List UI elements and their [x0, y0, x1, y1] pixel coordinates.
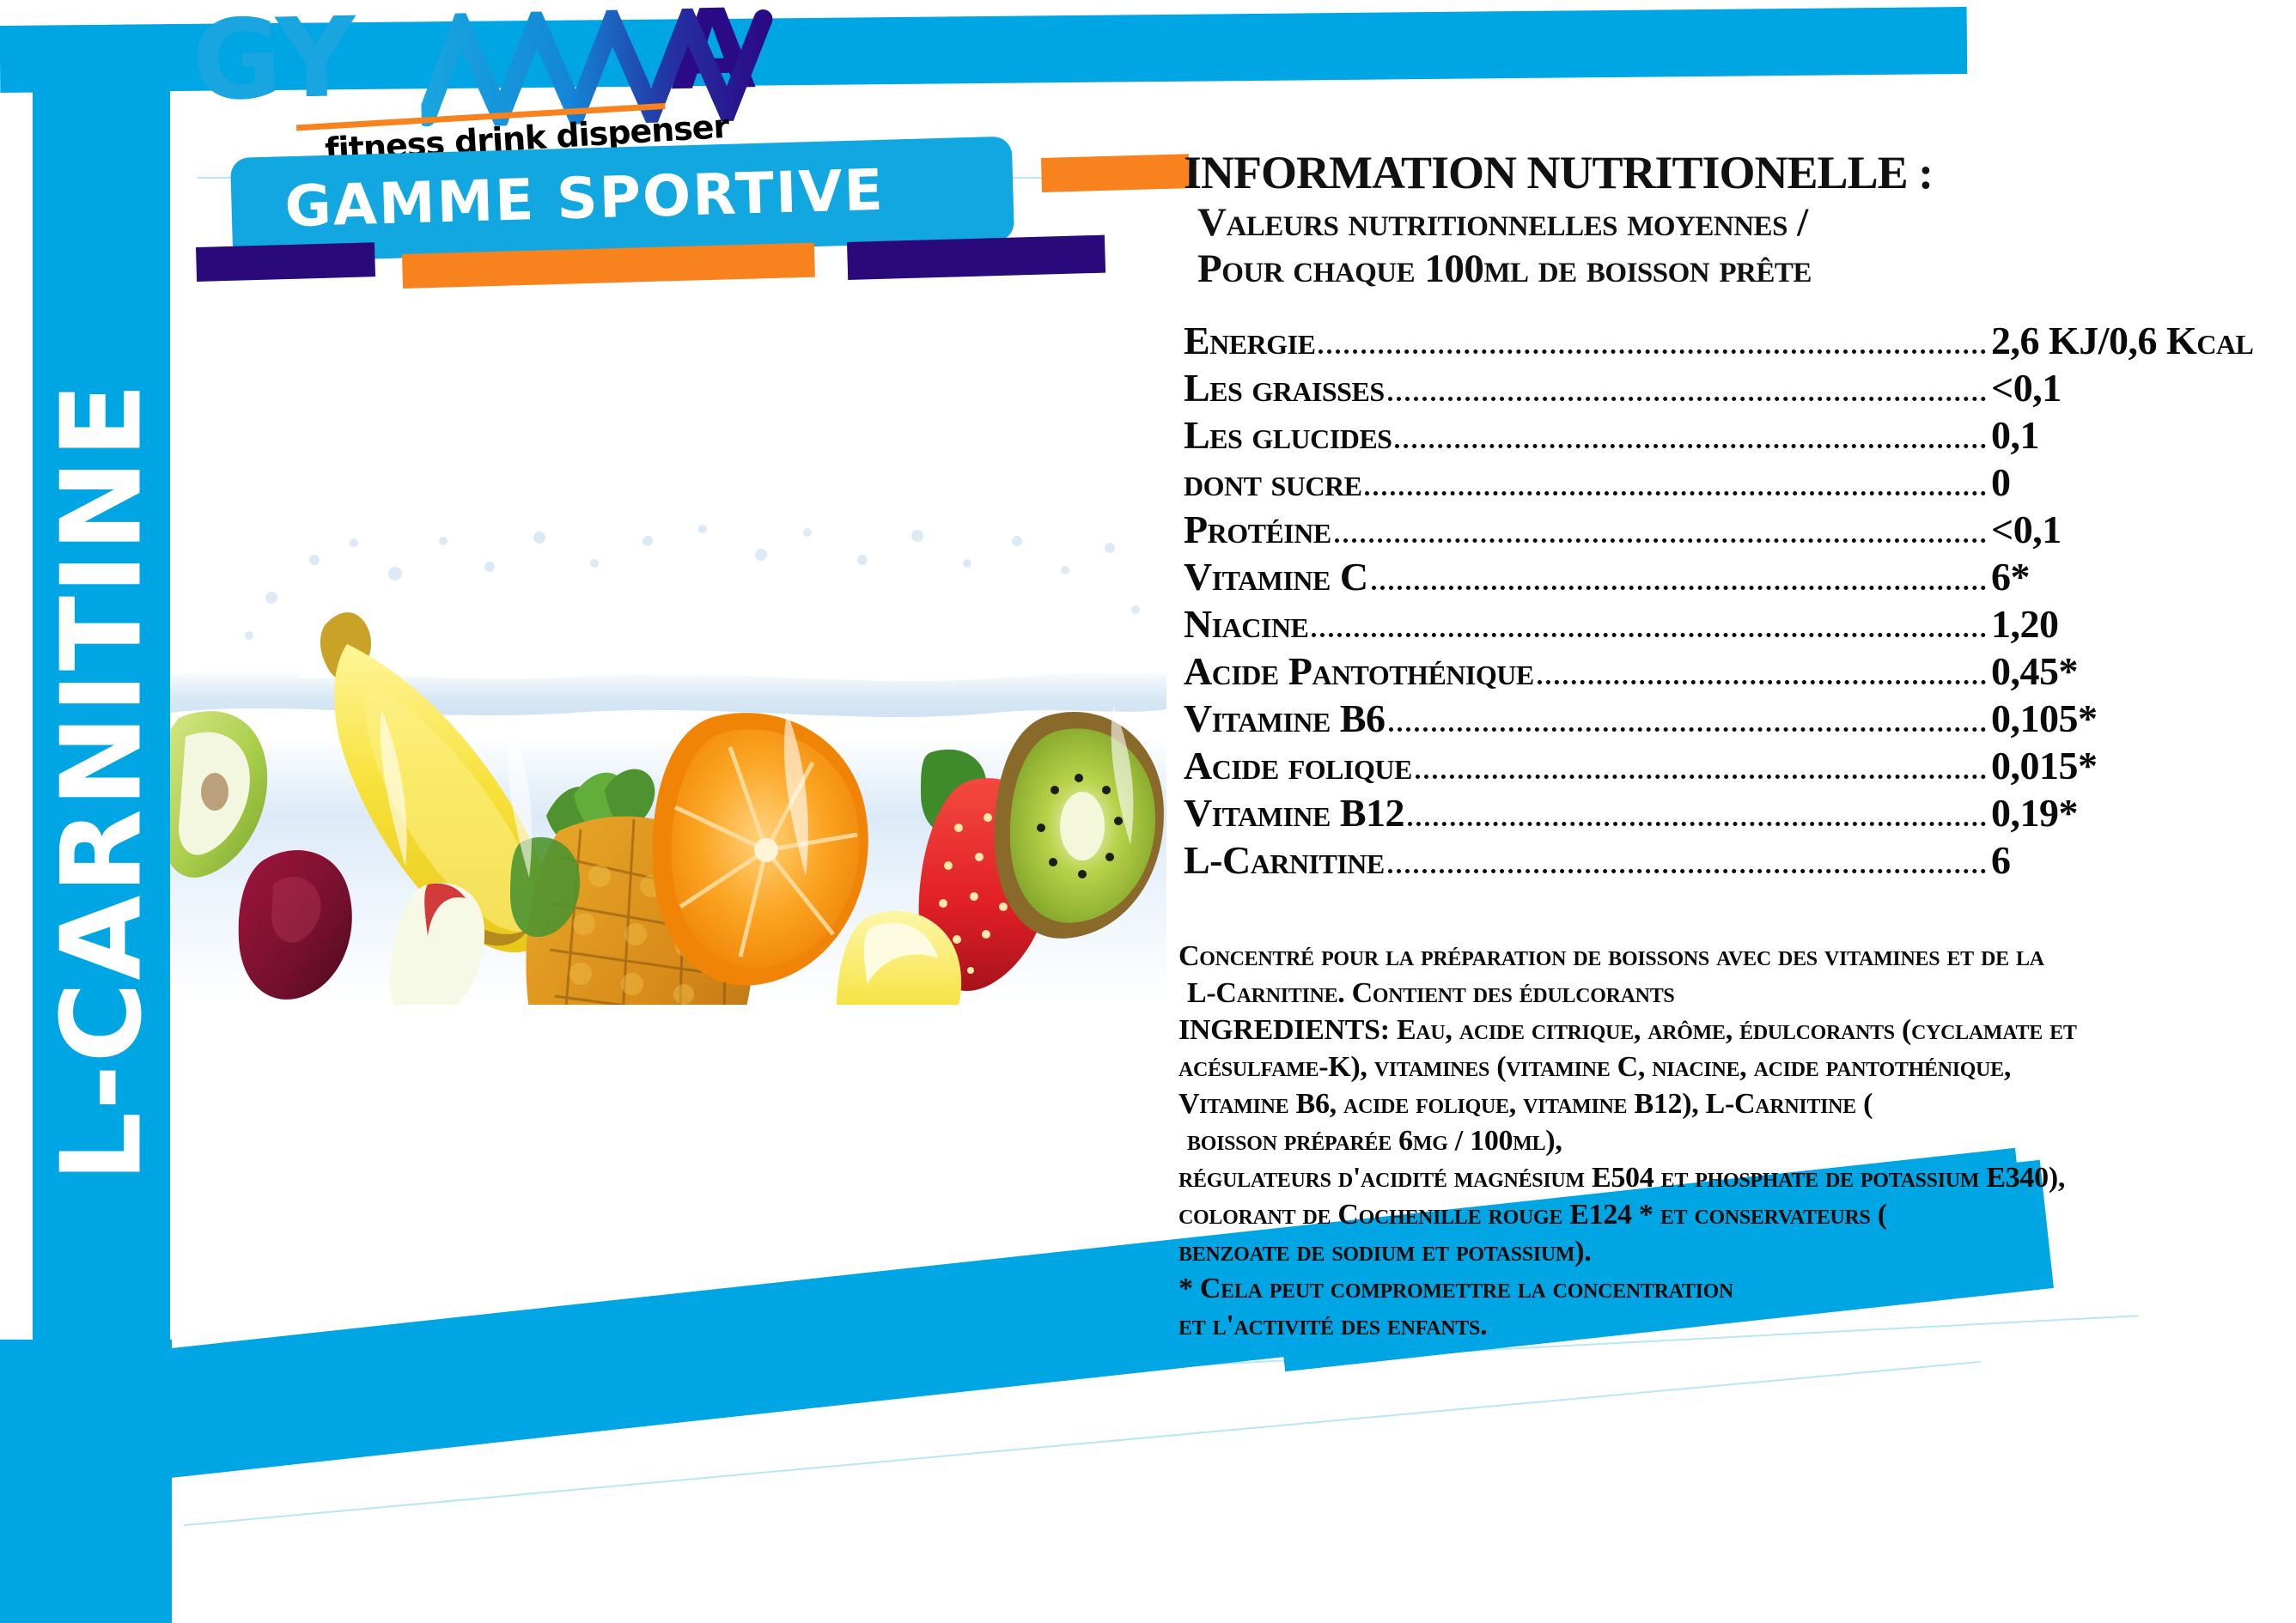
nutrition-row-leader — [1372, 586, 1986, 590]
nutrition-row-label: Acide Pantothénique — [1184, 648, 1534, 694]
nutrition-row-leader — [1388, 869, 1986, 873]
nutrition-row-value: 0 — [1991, 459, 2283, 505]
nutrition-row-value: 0,015* — [1991, 743, 2283, 788]
nutrition-subtitle-1: Valeurs nutritionnelles moyennes / — [1197, 199, 2275, 246]
nutrition-table: Energie2,6 KJ/0,6 KcalLes graisses<0,1Le… — [1184, 318, 2283, 884]
nutrition-row-leader — [1408, 822, 1986, 826]
nutrition-row-label: L-Carnitine — [1184, 837, 1385, 883]
nutrition-row: Les graisses<0,1 — [1184, 365, 2283, 412]
nutrition-row-value: 0,105* — [1991, 696, 2283, 741]
nutrition-row: Energie2,6 KJ/0,6 Kcal — [1184, 318, 2283, 365]
nutrition-title: INFORMATION NUTRITIONELLE : — [1184, 146, 2275, 199]
nutrition-row-value: 0,1 — [1991, 412, 2283, 458]
nutrition-row-leader — [1319, 350, 1986, 354]
label-canvas: L-CARNITINE GYMMMA fitness drink dispens… — [0, 0, 2296, 1623]
logo-gy-text: GY — [191, 0, 354, 125]
nutrition-row-label: Les graisses — [1184, 365, 1385, 410]
nutrition-row-label: Protéine — [1184, 507, 1331, 552]
nutrition-row-leader — [1416, 775, 1986, 779]
nutrition-row-leader — [1395, 444, 1986, 448]
ingredients-line: L-Carnitine. Contient des édulcorants — [1187, 975, 2287, 1012]
fruit-splash-photo — [170, 507, 1166, 1005]
nutrition-row-label: Vitamine B6 — [1184, 696, 1386, 741]
nutrition-row-leader — [1389, 727, 1986, 732]
nutrition-row: L-Carnitine6 — [1184, 837, 2283, 884]
nutrition-row-value: <0,1 — [1991, 507, 2283, 552]
nutrition-row-label: Vitamine C — [1184, 554, 1368, 599]
nutrition-row-leader — [1388, 397, 1986, 401]
nutrition-row: Vitamine B60,105* — [1184, 696, 2283, 743]
brand-logo: GYMMMA fitness drink dispenser — [191, 0, 812, 144]
accent-bar-orange-top — [1041, 154, 1190, 192]
ingredients-line: benzoate de sodium et potassium). — [1178, 1233, 2287, 1270]
nutrition-row: Les glucides0,1 — [1184, 412, 2283, 459]
nutrition-row: Vitamine B120,19* — [1184, 790, 2283, 837]
nutrition-row-leader — [1335, 538, 1986, 543]
ingredients-line: et l'activité des enfants. — [1178, 1307, 2287, 1344]
accent-bar-navy-right — [847, 235, 1105, 280]
nutrition-row: Protéine<0,1 — [1184, 507, 2283, 554]
ingredients-line: colorant de Cochenille rouge E124 * et c… — [1178, 1196, 2287, 1233]
nutrition-row-label: Acide folique — [1184, 743, 1412, 788]
vertical-product-label: L-CARNITINE — [39, 381, 167, 1182]
ingredients-line: Concentré pour la préparation de boisson… — [1178, 938, 2287, 975]
ingredients-line: * Cela peut compromettre la concentratio… — [1178, 1270, 2287, 1307]
range-banner-label: GAMME SPORTIVE — [284, 157, 886, 240]
ingredients-line: acésulfame-K), vitamines (vitamine C, ni… — [1178, 1049, 2287, 1085]
nutrition-row-value: 6* — [1991, 554, 2283, 599]
nutrition-row-value: 0,45* — [1991, 648, 2283, 694]
nutrition-row-value: <0,1 — [1991, 365, 2283, 410]
nutrition-row: Acide Pantothénique0,45* — [1184, 648, 2283, 696]
ingredients-line: régulateurs d'acidité magnésium E504 et … — [1178, 1159, 2287, 1196]
vertical-product-name: L-CARNITINE — [34, 223, 170, 1340]
nutrition-subtitle-2: Pour chaque 100ml de boisson prête — [1197, 246, 2275, 292]
nutrition-row-leader — [1365, 491, 1986, 495]
nutrition-row-label: Les glucides — [1184, 412, 1392, 458]
accent-bar-navy-left — [196, 242, 375, 282]
nutrition-row-label: Niacine — [1184, 601, 1308, 647]
ingredients-block: Concentré pour la préparation de boisson… — [1178, 938, 2287, 1344]
nutrition-row-value: 0,19* — [1991, 790, 2283, 836]
nutrition-row-value: 1,20 — [1991, 601, 2283, 647]
nutrition-row-label: dont sucre — [1184, 459, 1361, 505]
nutrition-row-value: 6 — [1991, 837, 2283, 883]
nutrition-row-label: Energie — [1184, 318, 1315, 363]
nutrition-row: Acide folique0,015* — [1184, 743, 2283, 790]
nutrition-row: Niacine1,20 — [1184, 601, 2283, 648]
ingredients-line: INGREDIENTS: Eau, acide citrique, arôme,… — [1178, 1012, 2287, 1049]
nutrition-row: dont sucre0 — [1184, 459, 2283, 507]
ingredients-line: Vitamine B6, acide folique, vitamine B12… — [1178, 1085, 2287, 1122]
nutrition-header: INFORMATION NUTRITIONELLE : Valeurs nutr… — [1184, 146, 2275, 292]
ingredients-line: boisson préparée 6mg / 100ml), — [1187, 1122, 2287, 1159]
nutrition-row-value: 2,6 KJ/0,6 Kcal — [1991, 318, 2283, 363]
nutrition-row: Vitamine C6* — [1184, 554, 2283, 601]
nutrition-row-label: Vitamine B12 — [1184, 790, 1404, 836]
nutrition-row-leader — [1312, 633, 1986, 637]
nutrition-row-leader — [1538, 680, 1986, 684]
